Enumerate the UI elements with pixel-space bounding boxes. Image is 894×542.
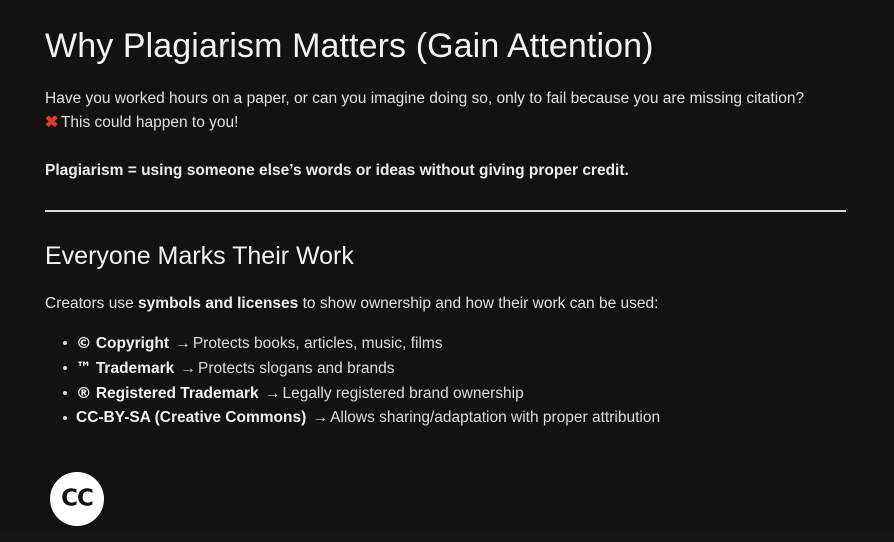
warning-text: This could happen to you! (61, 114, 239, 131)
arrow-icon: → (311, 409, 331, 426)
symbol-list: © Copyright →Protects books, articles, m… (45, 315, 849, 430)
arrow-icon: → (263, 385, 283, 402)
slide-container: Why Plagiarism Matters (Gain Attention) … (0, 0, 894, 542)
lead-before: Creators use (45, 295, 138, 312)
cross-mark-icon: ✖ (45, 111, 59, 135)
page-title: Why Plagiarism Matters (Gain Attention) (45, 0, 849, 65)
symbol-description: Legally registered brand ownership (282, 385, 523, 402)
symbol-description: Protects slogans and brands (198, 360, 394, 377)
creative-commons-logo-text: CC (61, 487, 93, 510)
arrow-icon: → (179, 360, 199, 377)
symbol-label: CC-BY-SA (Creative Commons) (76, 409, 306, 426)
trademark-icon: ™ (76, 359, 92, 377)
symbol-name: Trademark (96, 360, 174, 377)
symbol-name: Copyright (96, 335, 169, 352)
registered-trademark-icon: ® (76, 384, 92, 402)
symbol-name: CC-BY-SA (Creative Commons) (76, 409, 306, 426)
symbol-label: ® Registered Trademark (76, 385, 259, 402)
symbol-description: Protects books, articles, music, films (193, 335, 443, 352)
creative-commons-logo: CC (50, 472, 104, 526)
bottom-strip (0, 530, 894, 542)
plagiarism-definition: Plagiarism = using someone else’s words … (45, 135, 849, 182)
copyright-icon: © (76, 334, 92, 352)
list-item: ® Registered Trademark →Legally register… (45, 381, 849, 406)
lead-emphasis: symbols and licenses (138, 295, 298, 312)
lead-after: to show ownership and how their work can… (298, 295, 658, 312)
symbol-description: Allows sharing/adaptation with proper at… (330, 409, 660, 426)
symbol-label: © Copyright (76, 335, 169, 352)
intro-text: Have you worked hours on a paper, or can… (45, 90, 804, 107)
symbol-name: Registered Trademark (96, 385, 259, 402)
arrow-icon: → (173, 335, 193, 352)
warning-line: ✖This could happen to you! (45, 111, 805, 135)
list-item: ™ Trademark →Protects slogans and brands (45, 356, 849, 381)
list-item: © Copyright →Protects books, articles, m… (45, 331, 849, 356)
symbol-label: ™ Trademark (76, 360, 174, 377)
lead-paragraph: Creators use symbols and licenses to sho… (45, 271, 849, 315)
section-heading: Everyone Marks Their Work (45, 212, 849, 271)
intro-paragraph: Have you worked hours on a paper, or can… (45, 65, 805, 135)
list-item: CC-BY-SA (Creative Commons) →Allows shar… (45, 406, 849, 430)
